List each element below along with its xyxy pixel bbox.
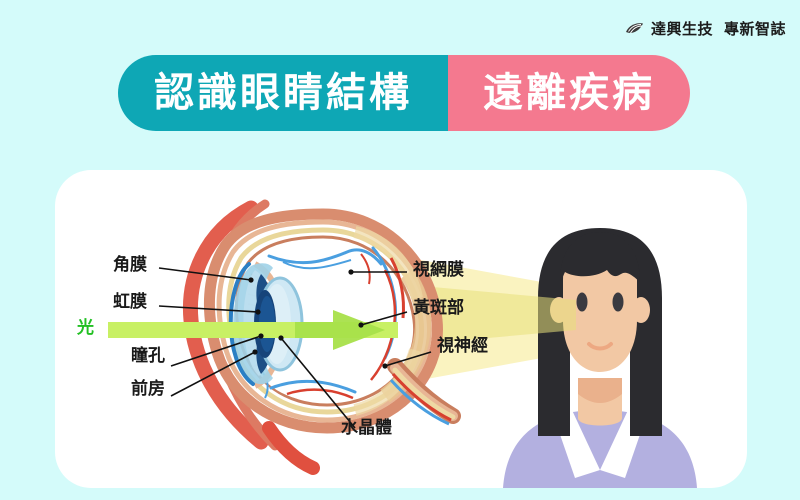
- banner-segment-disease: 遠離疾病: [448, 55, 690, 131]
- title-banner: 認識眼睛結構 遠離疾病: [118, 55, 690, 131]
- label-retina: 視網膜: [413, 262, 464, 279]
- banner-left-text: 認識眼睛結構: [154, 73, 412, 113]
- infographic-canvas: 達興生技 專新智誌 認識眼睛結構 遠離疾病: [0, 0, 800, 500]
- person-right-eye: [613, 293, 624, 312]
- label-iris: 虹膜: [113, 294, 147, 311]
- eye-anatomy-figure: [55, 170, 747, 488]
- brand-name: 達興生技: [651, 18, 713, 39]
- label-cornea: 角膜: [113, 257, 147, 274]
- person-left-eye: [577, 293, 588, 312]
- label-pupil: 瞳孔: [131, 348, 165, 365]
- banner-right-text: 遠離疾病: [483, 73, 655, 113]
- brand-bar: 達興生技 專新智誌: [625, 18, 786, 39]
- label-light: 光: [77, 320, 94, 337]
- label-lens: 水晶體: [341, 420, 392, 437]
- label-optic-nerve: 視神經: [437, 338, 488, 355]
- label-anterior-chamber: 前房: [131, 381, 165, 398]
- label-macula: 黃斑部: [413, 300, 464, 317]
- banner-segment-structure: 認識眼睛結構: [118, 55, 448, 131]
- leaf-swoosh-icon: [625, 22, 644, 36]
- brand-tagline: 專新智誌: [724, 18, 786, 39]
